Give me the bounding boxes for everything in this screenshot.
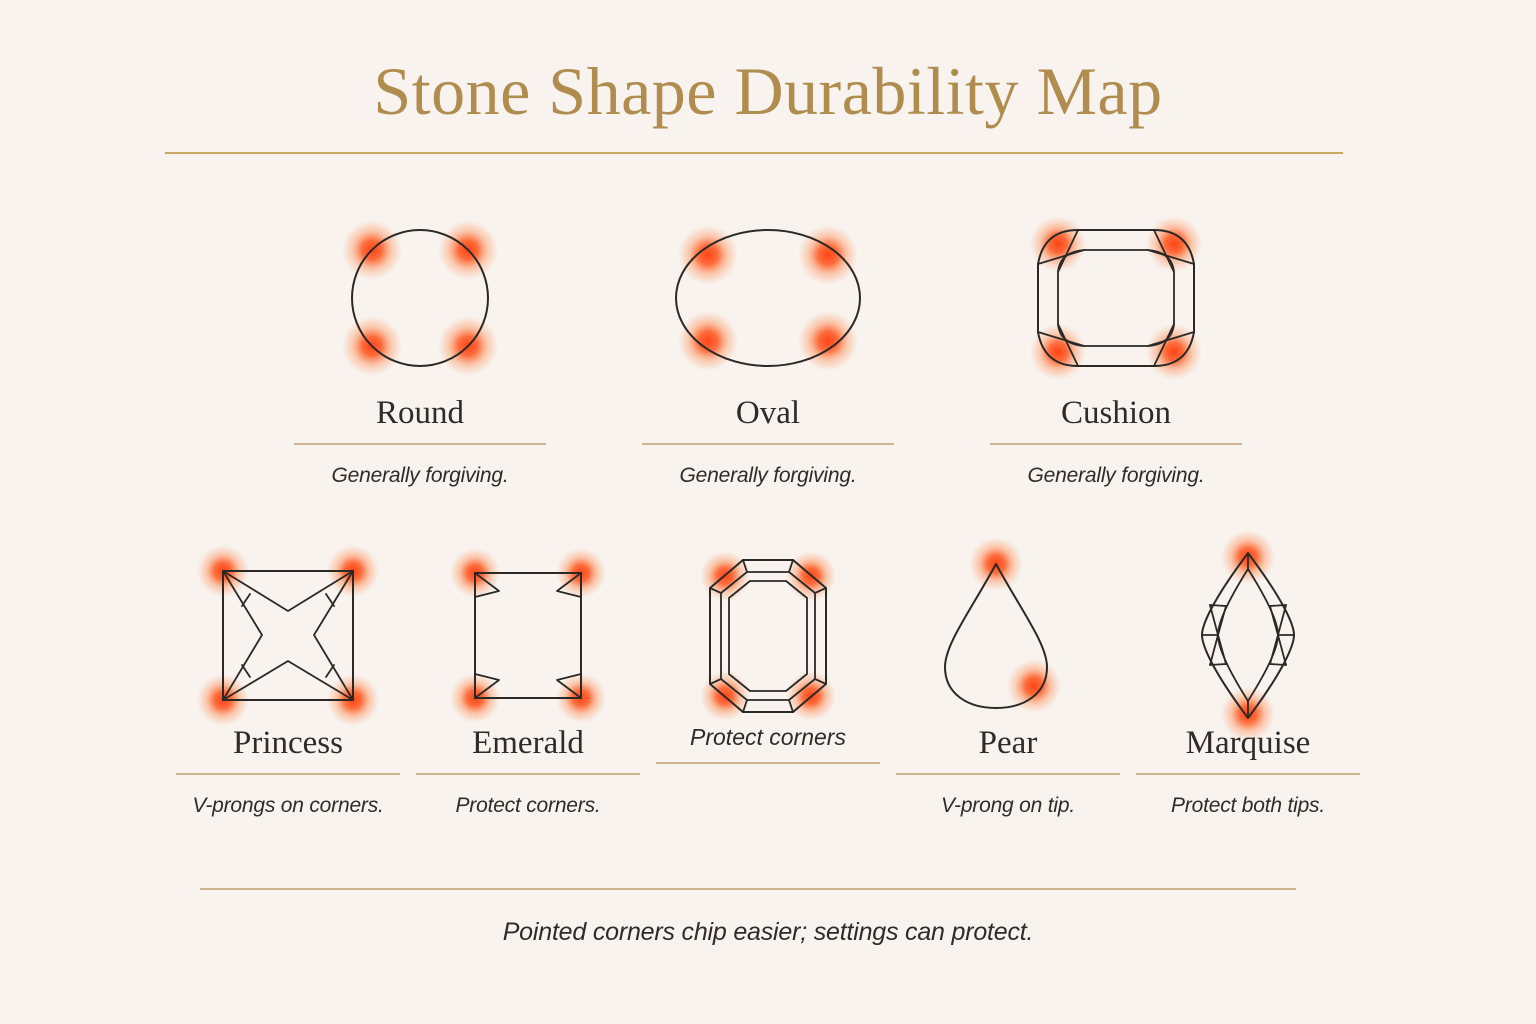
shape-divider — [896, 773, 1120, 775]
footer-divider — [200, 888, 1296, 890]
round-stress-glows — [342, 220, 498, 376]
princess-diagram — [203, 545, 373, 725]
oval-stress-glows — [678, 225, 858, 371]
shape-caption: V-prongs on corners. — [192, 794, 383, 818]
shape-divider — [294, 443, 546, 445]
shape-row-2: Princess V-prongs on corners. — [168, 545, 1368, 818]
shape-divider — [1136, 773, 1360, 775]
shape-divider — [990, 443, 1242, 445]
header: Stone Shape Durability Map — [0, 0, 1536, 127]
footer-note: Pointed corners chip easier; settings ca… — [0, 918, 1536, 947]
page-title: Stone Shape Durability Map — [0, 0, 1536, 127]
shape-cell-cushion[interactable]: Cushion Generally forgiving. — [942, 200, 1290, 488]
shape-name: Pear — [979, 725, 1038, 761]
oval-outline — [676, 230, 860, 366]
oval-diagram — [653, 200, 883, 395]
emerald-diagram — [453, 545, 603, 725]
cushion-stress-glows — [1030, 216, 1202, 380]
round-outline — [352, 230, 488, 366]
shape-cell-marquise[interactable]: Marquise Protect both tips. — [1128, 545, 1368, 818]
shape-name: Emerald — [472, 725, 584, 761]
pear-stress-glows — [969, 537, 1061, 713]
shape-caption: Generally forgiving. — [680, 464, 857, 488]
pear-diagram — [933, 545, 1083, 725]
shape-caption: Protect both tips. — [1171, 794, 1325, 818]
marquise-table — [1218, 569, 1278, 701]
shape-caption: Generally forgiving. — [1028, 464, 1205, 488]
shape-cell-pear[interactable]: Pear V-prong on tip. — [888, 545, 1128, 818]
shape-caption: Protect corners. — [455, 794, 600, 818]
emerald-step-table — [729, 581, 807, 691]
shape-caption: Generally forgiving. — [332, 464, 509, 488]
poster-root: Stone Shape Durability Map — [0, 0, 1536, 1024]
shape-cell-oval[interactable]: Oval Generally forgiving. — [594, 200, 942, 488]
shape-name: Marquise — [1186, 725, 1311, 761]
shape-name: Protect corners — [690, 725, 846, 750]
shape-divider — [416, 773, 640, 775]
princess-outline — [223, 571, 353, 700]
marquise-diagram — [1188, 545, 1308, 725]
shape-cell-princess[interactable]: Princess V-prongs on corners. — [168, 545, 408, 818]
shape-name: Princess — [233, 725, 343, 761]
shape-divider — [642, 443, 894, 445]
shape-name: Oval — [736, 395, 800, 431]
header-divider — [165, 152, 1343, 154]
shape-cell-emerald-step[interactable]: Protect corners — [648, 545, 888, 783]
princess-corner-chevrons — [242, 594, 334, 677]
cushion-diagram — [1016, 200, 1216, 395]
shape-cell-emerald[interactable]: Emerald Protect corners. — [408, 545, 648, 818]
shape-divider — [176, 773, 400, 775]
shape-name: Round — [376, 395, 464, 431]
shape-divider — [656, 762, 880, 764]
emerald-stress-glows — [450, 548, 606, 723]
round-diagram — [320, 200, 520, 395]
shape-cell-round[interactable]: Round Generally forgiving. — [246, 200, 594, 488]
shape-name: Cushion — [1061, 395, 1171, 431]
shape-caption: V-prong on tip. — [941, 794, 1075, 818]
emerald-step-diagram — [698, 545, 838, 725]
princess-star — [223, 571, 353, 700]
shape-row-1: Round Generally forgiving. — [168, 200, 1368, 488]
